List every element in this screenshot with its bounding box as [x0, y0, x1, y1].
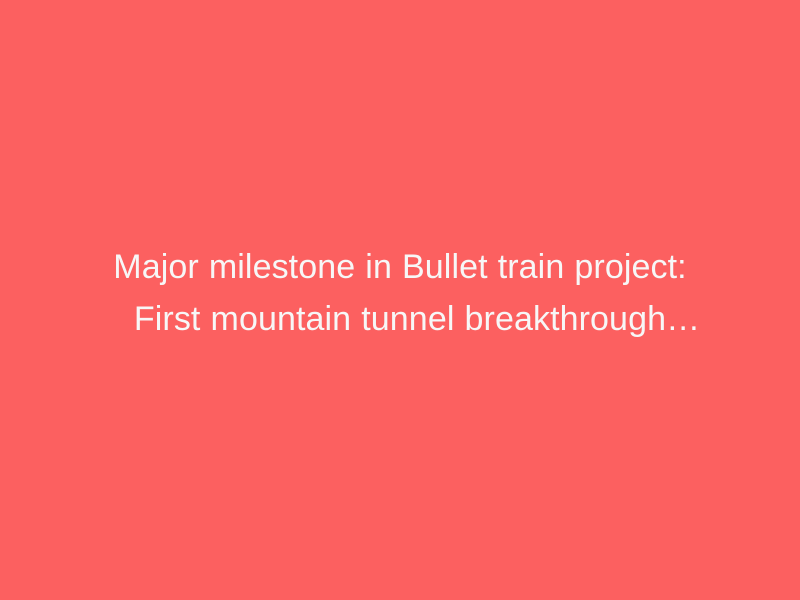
headline-text: Major milestone in Bullet train project:… — [80, 241, 720, 345]
headline-block: Major milestone in Bullet train project:… — [80, 241, 720, 345]
headline-placeholder-card: Major milestone in Bullet train project:… — [0, 0, 800, 600]
